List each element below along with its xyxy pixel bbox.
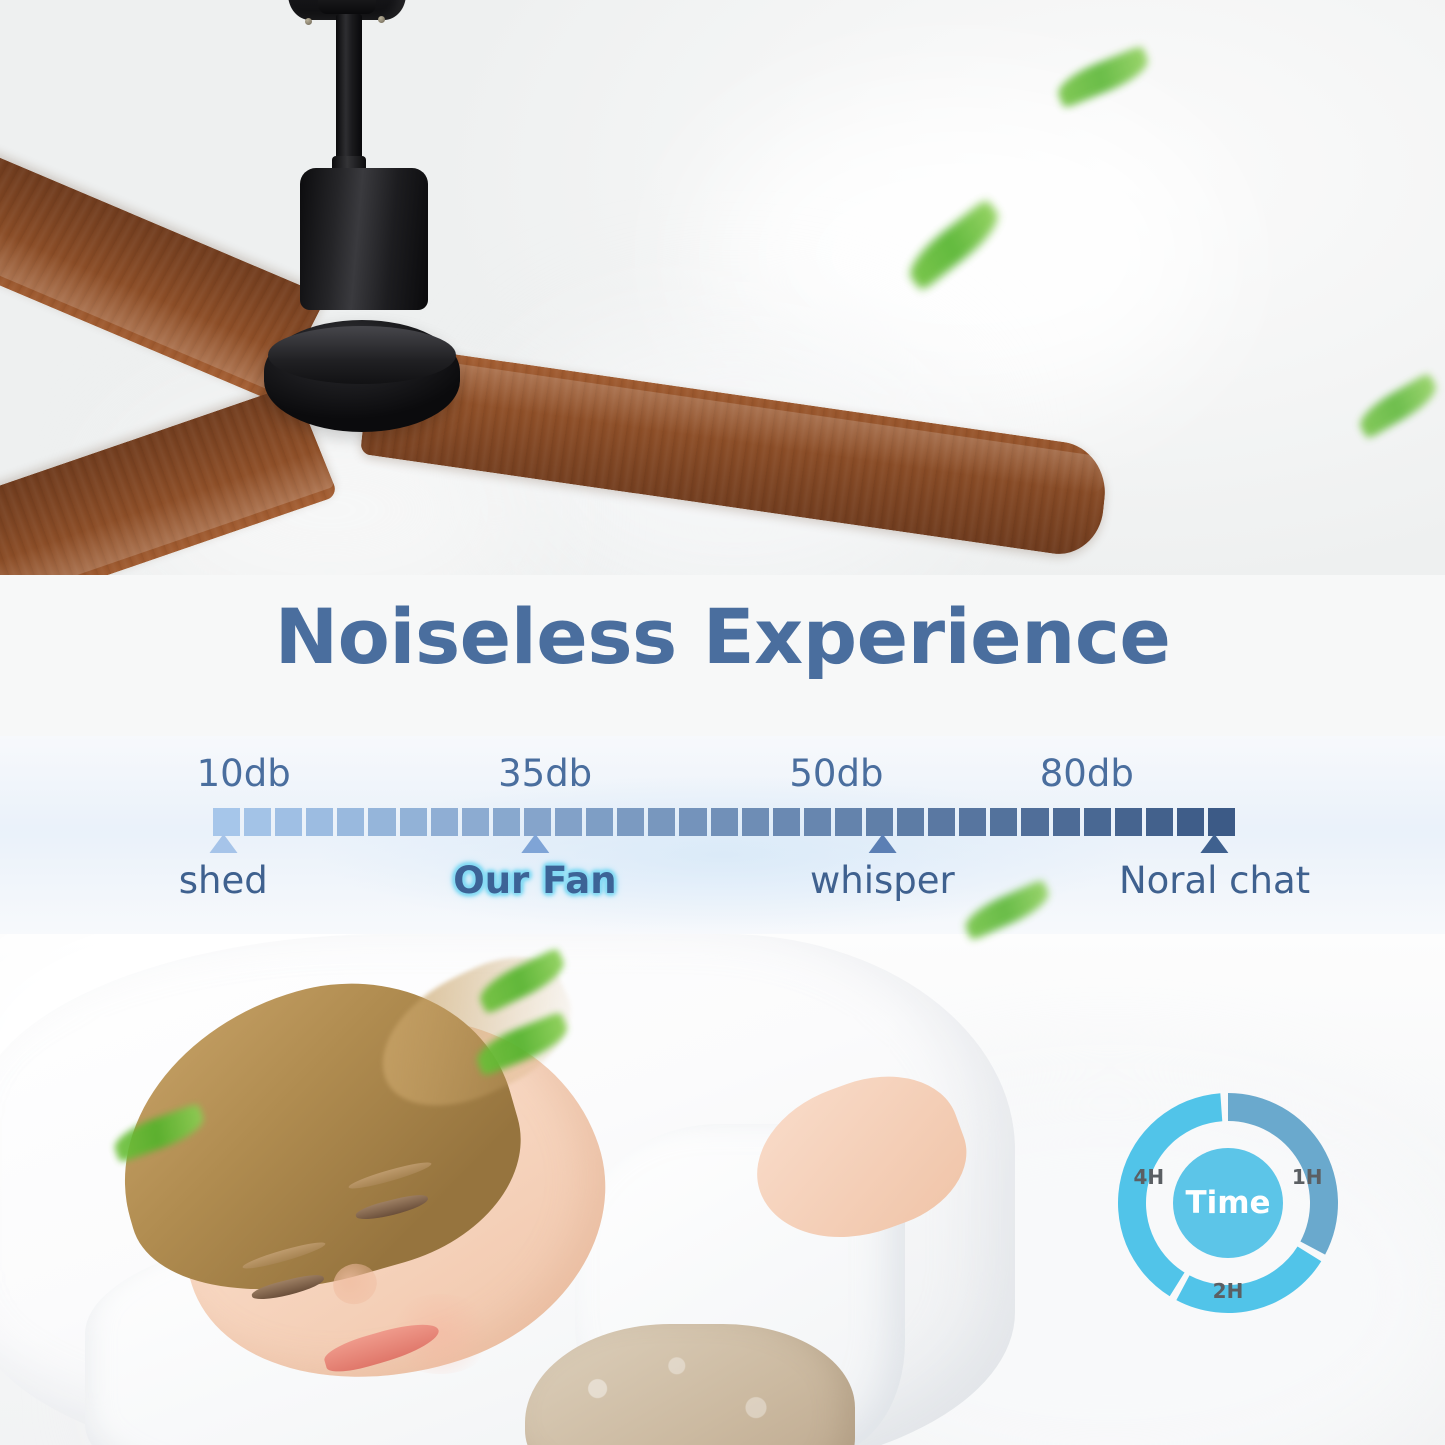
noise-scale-segment <box>400 808 427 836</box>
noise-scale-segment <box>990 808 1017 836</box>
noise-scale-segment <box>773 808 800 836</box>
timer-inner-circle <box>1173 1148 1283 1258</box>
noise-scale-segment <box>617 808 644 836</box>
noise-scale-segment <box>1115 808 1142 836</box>
noise-scale-segment <box>1084 808 1111 836</box>
noise-scale-marker-label: whisper <box>810 859 955 902</box>
noise-scale-segment <box>928 808 955 836</box>
fan-blade <box>360 342 1110 560</box>
noise-scale-bar <box>213 808 1235 836</box>
noise-scale-segment <box>959 808 986 836</box>
noise-scale-segment <box>431 808 458 836</box>
noise-scale-marker-label: Noral chat <box>1119 859 1310 902</box>
noise-scale-segment <box>866 808 893 836</box>
noise-scale-tick-label: 50db <box>789 752 883 795</box>
timer-donut-chart: Time 1H2H4H <box>1118 1093 1338 1313</box>
noise-scale-segment <box>555 808 582 836</box>
noise-scale-segment <box>1021 808 1048 836</box>
noise-scale-markers: shedOur FanwhisperNoral chat <box>0 834 1445 930</box>
noise-scale-marker: shed <box>179 834 268 902</box>
noise-scale-segment <box>368 808 395 836</box>
noise-level-scale: 10db35db50db80db shedOur FanwhisperNoral… <box>0 736 1445 934</box>
noise-scale-tick-label: 80db <box>1040 752 1134 795</box>
noise-scale-segment <box>679 808 706 836</box>
fan-motor-housing <box>300 168 428 310</box>
noise-scale-segment <box>1146 808 1173 836</box>
noise-scale-segment <box>711 808 738 836</box>
noise-scale-marker: Noral chat <box>1119 834 1310 902</box>
noise-scale-segment <box>1053 808 1080 836</box>
noise-scale-segment <box>897 808 924 836</box>
noise-scale-marker: whisper <box>810 834 955 902</box>
noise-scale-segment <box>804 808 831 836</box>
product-infographic-page: Noiseless Experience 10db35db50db80db sh… <box>0 0 1445 1445</box>
noise-scale-segment <box>524 808 551 836</box>
noise-scale-segment <box>275 808 302 836</box>
timer-tick-label: 2H <box>1213 1279 1244 1303</box>
noise-scale-marker: Our Fan <box>453 834 616 902</box>
noise-scale-segment <box>742 808 769 836</box>
noise-scale-segment <box>648 808 675 836</box>
noise-scale-tick-labels: 10db35db50db80db <box>0 752 1445 804</box>
fan-downrod <box>336 14 362 166</box>
timer-tick-label: 1H <box>1292 1165 1323 1189</box>
marker-arrow-icon <box>1201 834 1229 853</box>
noise-scale-segment <box>493 808 520 836</box>
noise-scale-segment <box>835 808 862 836</box>
noise-scale-marker-label: Our Fan <box>453 859 616 902</box>
page-title: Noiseless Experience <box>0 592 1445 681</box>
noise-scale-segment <box>337 808 364 836</box>
ceiling-fan-hero-image <box>0 0 1445 575</box>
noise-scale-segment <box>213 808 240 836</box>
timer-tick-label: 4H <box>1133 1165 1164 1189</box>
noise-scale-segment <box>244 808 271 836</box>
noise-scale-marker-label: shed <box>179 859 268 902</box>
noise-scale-segment <box>306 808 333 836</box>
marker-arrow-icon <box>868 834 896 853</box>
canopy-screw <box>378 16 385 23</box>
fan-hub-rim <box>268 326 456 384</box>
noise-scale-tick-label: 35db <box>498 752 592 795</box>
timer-segment-2h[interactable] <box>1176 1246 1321 1313</box>
noise-scale-tick-label: 10db <box>197 752 291 795</box>
noise-scale-segment <box>586 808 613 836</box>
noise-scale-segment <box>1208 808 1235 836</box>
noise-scale-segment <box>1177 808 1204 836</box>
canopy-screw <box>305 18 312 25</box>
marker-arrow-icon <box>521 834 549 853</box>
noise-scale-segment <box>462 808 489 836</box>
marker-arrow-icon <box>209 834 237 853</box>
